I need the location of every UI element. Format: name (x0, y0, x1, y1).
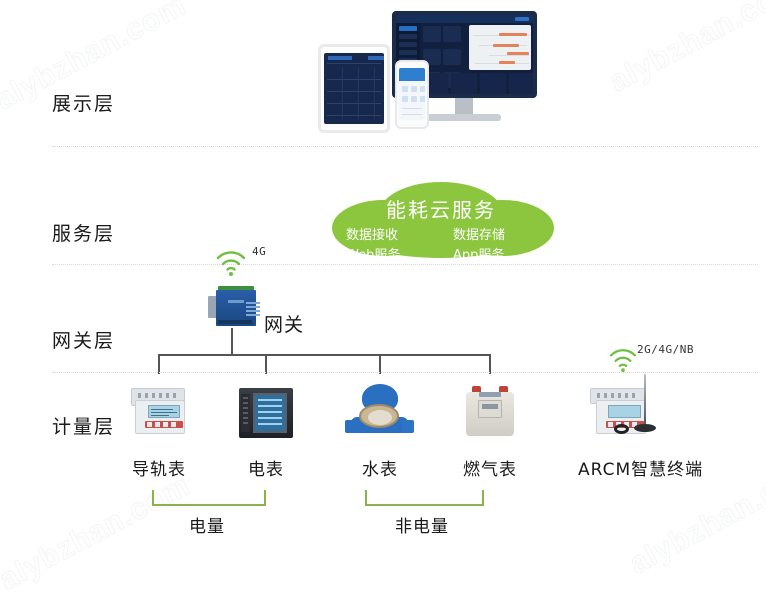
monitor-stand-neck (455, 98, 473, 115)
monitor-bottom-cards (422, 73, 531, 98)
cloud-service: 能耗云服务 数据接收 数据存储 Web服务 App服务 (316, 180, 566, 262)
gateway-bus-line (158, 354, 491, 356)
tablet-device (318, 44, 390, 133)
water-meter-icon (345, 384, 415, 440)
watermark: alybzhan.com (604, 0, 766, 99)
cloud-service-item: App服务 (441, 244, 548, 263)
divider-display-service (52, 146, 758, 147)
divider-gateway-metering (52, 372, 758, 373)
branch-line-1 (158, 354, 160, 374)
cloud-services: 数据接收 数据存储 Web服务 App服务 (334, 224, 548, 263)
electric-meter-icon (239, 388, 293, 438)
monitor-map-panel (469, 25, 531, 70)
divider-service-gateway (52, 264, 758, 265)
monitor-topbar (396, 15, 533, 23)
electricity-bracket (152, 490, 266, 506)
cloud-service-item: 数据接收 (334, 224, 441, 243)
layer-label-service: 服务层 (52, 219, 115, 246)
branch-line-3 (379, 354, 381, 374)
arcm-terminal-label: ARCM智慧终端 (578, 455, 758, 480)
non-electricity-bracket-label: 非电量 (372, 512, 472, 537)
wifi-icon (607, 348, 639, 372)
arcm-terminal-icon (588, 388, 666, 444)
diagram-canvas: alybzhan.com alybzhan.com alybzhan.com a… (0, 0, 766, 560)
water-meter-label: 水表 (330, 455, 430, 480)
wifi-icon (214, 250, 248, 276)
gateway-network-tag: 4G (252, 245, 266, 258)
branch-line-4 (489, 354, 491, 374)
phone-device (395, 60, 429, 129)
gateway-stem-line (231, 328, 233, 355)
layer-label-gateway: 网关层 (52, 326, 115, 353)
antenna-cable-icon (614, 424, 629, 434)
antenna-icon (644, 374, 646, 426)
cloud-title: 能耗云服务 (316, 194, 566, 223)
tablet-screen (324, 53, 384, 124)
terminal-network-tag: 2G/4G/NB (637, 343, 694, 356)
electricity-bracket-label: 电量 (157, 512, 257, 537)
non-electricity-bracket (365, 490, 484, 506)
gateway-device (208, 286, 260, 328)
branch-line-2 (265, 354, 267, 374)
monitor-stand-base (427, 114, 501, 121)
din-rail-meter-icon (129, 386, 189, 438)
cloud-service-item: 数据存储 (441, 224, 548, 243)
din-rail-meter-label: 导轨表 (109, 455, 209, 480)
antenna-base-icon (634, 424, 656, 432)
phone-screen (399, 68, 425, 120)
gateway-label: 网关 (264, 310, 304, 337)
gas-meter-icon (464, 386, 516, 438)
electric-meter-label: 电表 (216, 455, 316, 480)
cloud-service-item: Web服务 (334, 244, 441, 263)
gas-meter-label: 燃气表 (440, 455, 540, 480)
layer-label-display: 展示层 (52, 89, 115, 116)
layer-label-metering: 计量层 (52, 412, 115, 439)
